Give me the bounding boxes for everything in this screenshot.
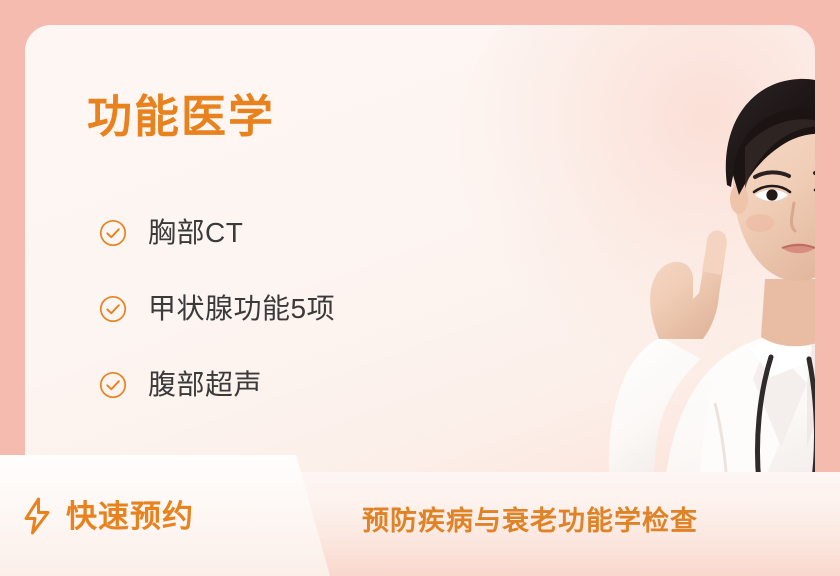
page-title: 功能医学 (87, 94, 275, 139)
list-item-label: 胸部CT (148, 219, 243, 247)
circle-check-icon (99, 371, 127, 399)
list-item: 甲状腺功能5项 (99, 271, 335, 347)
tagline-text: 预防疾病与衰老功能学检查 (362, 508, 698, 535)
list-item: 腹部超声 (99, 347, 335, 423)
neck (761, 279, 815, 346)
list-item-label: 甲状腺功能5项 (148, 295, 335, 323)
quick-booking-content: 快速预约 (22, 497, 194, 535)
doctor-head (726, 79, 815, 364)
quick-booking-label: 快速预约 (66, 501, 194, 532)
circle-check-icon (99, 219, 127, 247)
circle-check-icon (99, 295, 127, 323)
list-item: 胸部CT (99, 195, 335, 271)
lightning-bolt-icon (22, 497, 52, 535)
list-item-label: 腹部超声 (148, 371, 262, 399)
promo-banner: 功能医学 胸部CT 甲状腺功能5项 (0, 0, 840, 576)
bottom-bar: 预防疾病与衰老功能学检查 快速预约 (0, 455, 840, 576)
quick-booking-button[interactable]: 快速预约 (0, 455, 330, 576)
feature-list: 胸部CT 甲状腺功能5项 腹部超声 (99, 195, 335, 423)
